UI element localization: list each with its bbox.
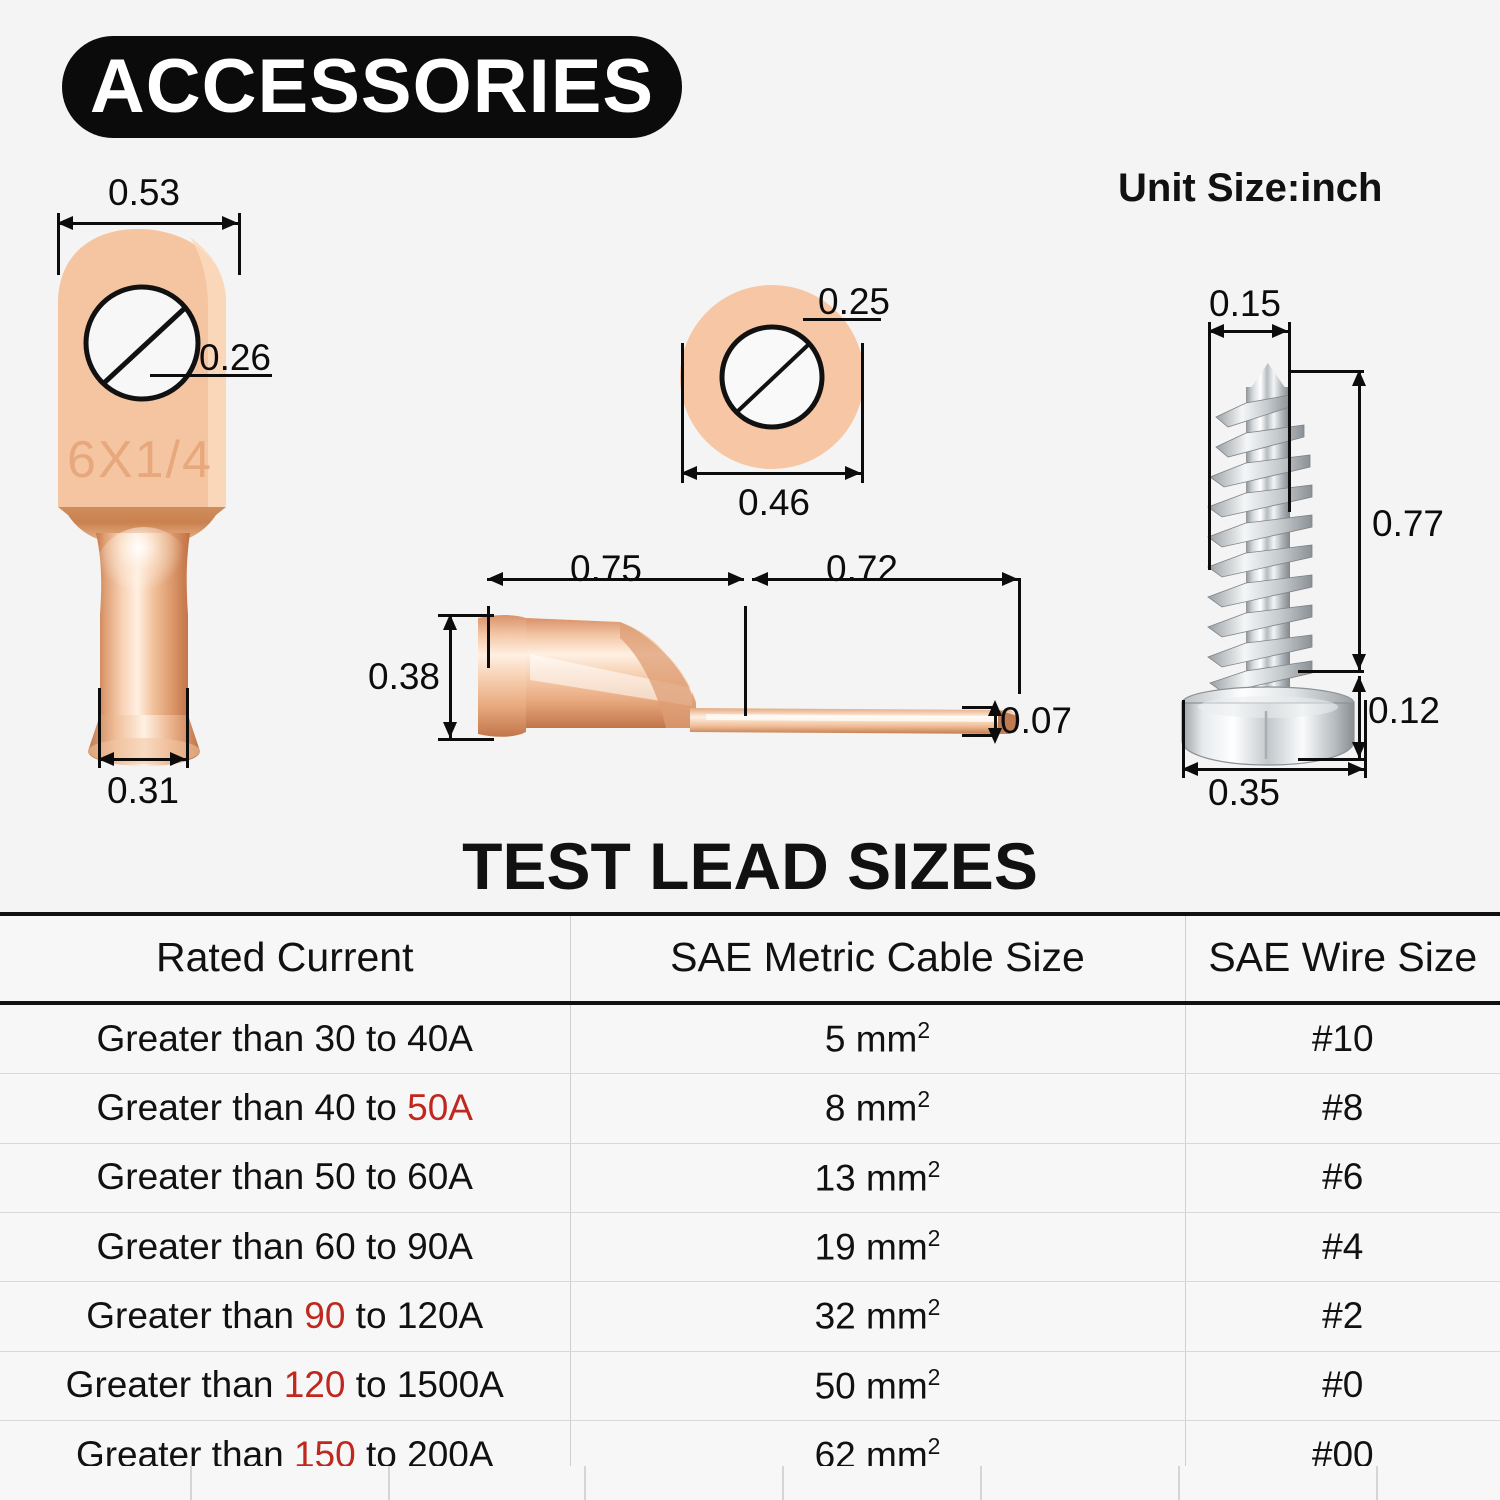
- dim-washer-outer-arrow-left: [681, 466, 697, 480]
- dim-pad-width-arrow-left: [57, 216, 73, 230]
- dim-pad-width-arrow-right: [222, 216, 238, 230]
- highlighted-current-value: 120: [284, 1364, 346, 1405]
- dim-washer-outer-ext-right: [861, 343, 864, 483]
- dim-barrel-length-label: 0.75: [570, 548, 642, 590]
- dim-shaft-len-line: [1358, 370, 1361, 670]
- cable-size-exponent: 2: [917, 1086, 930, 1112]
- dim-barrel-height-label: 0.38: [368, 656, 440, 698]
- dim-barrel-height-line: [449, 614, 452, 738]
- table-row: Greater than 30 to 40A5 mm2#10: [0, 1003, 1500, 1074]
- table-row: Greater than 60 to 90A19 mm2#4: [0, 1212, 1500, 1281]
- cell-cable-size: 32 mm2: [570, 1282, 1185, 1351]
- dim-washer-outer-label: 0.46: [738, 482, 810, 524]
- cell-rated-current: Greater than 60 to 90A: [0, 1212, 570, 1281]
- bolt-hole: [86, 287, 198, 399]
- dim-pad-width-line: [57, 222, 238, 225]
- cable-size-exponent: 2: [928, 1225, 941, 1251]
- cell-cable-size: 19 mm2: [570, 1212, 1185, 1281]
- dim-head-dia-ext-right: [1364, 700, 1367, 778]
- cell-rated-current: Greater than 40 to 50A: [0, 1074, 570, 1143]
- product-spec-sheet: ACCESSORIES Unit Size:inch: [0, 0, 1500, 1500]
- dim-thread-dia-arrow-right: [1272, 324, 1288, 338]
- dim-barrel-width-label: 0.31: [107, 770, 179, 812]
- cable-size-exponent: 2: [928, 1433, 941, 1459]
- dim-barrel-length-arrow-left: [487, 572, 503, 586]
- table-partial-row: [0, 1466, 1500, 1500]
- dim-hole-label: 0.26: [199, 337, 271, 379]
- cell-wire-size: #2: [1185, 1282, 1500, 1351]
- dim-thread-dia-ext-left: [1208, 322, 1211, 570]
- column-header-cable-size: SAE Metric Cable Size: [570, 914, 1185, 1003]
- highlighted-current-value: 90: [304, 1295, 345, 1336]
- lug-side-barrel-flare: [478, 615, 526, 737]
- cell-wire-size: #10: [1185, 1003, 1500, 1074]
- dim-tongue-length-label: 0.72: [826, 548, 898, 590]
- dim-washer-outer-line: [681, 472, 861, 475]
- cell-rated-current: Greater than 90 to 120A: [0, 1282, 570, 1351]
- dim-head-h-arrow-up: [1352, 676, 1366, 692]
- dim-barrel-height-ext-bottom: [438, 738, 494, 741]
- dim-head-h-label: 0.12: [1368, 690, 1440, 732]
- test-lead-sizes-table: Rated Current SAE Metric Cable Size SAE …: [0, 912, 1500, 1500]
- cable-size-exponent: 2: [928, 1364, 941, 1390]
- lug-size-stamp: 6X1/4: [67, 431, 213, 489]
- table-header-row: Rated Current SAE Metric Cable Size SAE …: [0, 914, 1500, 1003]
- dim-shaft-len-arrow-up: [1352, 370, 1366, 386]
- dim-thread-dia-ext-right: [1288, 322, 1291, 512]
- dim-barrel-width-ext-right: [186, 688, 189, 768]
- dim-head-dia-arrow-right: [1348, 762, 1364, 776]
- dim-barrel-height-arrow-down: [443, 722, 457, 738]
- dim-washer-outer-ext-left: [681, 343, 684, 483]
- cable-size-exponent: 2: [917, 1017, 930, 1043]
- column-header-wire-size: SAE Wire Size: [1185, 914, 1500, 1003]
- dim-barrel-width-arrow-right: [170, 752, 186, 766]
- cell-cable-size: 8 mm2: [570, 1074, 1185, 1143]
- copper-ring-lug-front-view: 6X1/4: [40, 215, 310, 785]
- accessories-badge-label: ACCESSORIES: [90, 49, 654, 125]
- screw-point: [1246, 363, 1290, 395]
- dim-tongue-length-ext-right: [1018, 578, 1021, 694]
- dim-barrel-length-ext-right: [744, 606, 747, 716]
- cell-rated-current: Greater than 120 to 1500A: [0, 1351, 570, 1420]
- dim-pad-width-ext-right: [238, 213, 241, 275]
- cell-wire-size: #4: [1185, 1212, 1500, 1281]
- table-title: TEST LEAD SIZES: [0, 828, 1500, 904]
- dim-barrel-width-arrow-left: [98, 752, 114, 766]
- table-row: Greater than 120 to 1500A50 mm2#0: [0, 1351, 1500, 1420]
- dim-barrel-length-arrow-right: [728, 572, 744, 586]
- dim-shaft-len-ext-bottom: [1298, 670, 1364, 673]
- dim-head-dia-label: 0.35: [1208, 772, 1280, 814]
- cell-cable-size: 13 mm2: [570, 1143, 1185, 1212]
- cell-wire-size: #0: [1185, 1351, 1500, 1420]
- dim-washer-inner-label: 0.25: [818, 281, 890, 323]
- dim-shaft-len-arrow-down: [1352, 654, 1366, 670]
- cell-wire-size: #8: [1185, 1074, 1500, 1143]
- cell-rated-current: Greater than 30 to 40A: [0, 1003, 570, 1074]
- cell-cable-size: 50 mm2: [570, 1351, 1185, 1420]
- highlighted-current-value: 50A: [407, 1087, 473, 1128]
- dim-barrel-height-arrow-up: [443, 614, 457, 630]
- cell-wire-size: #6: [1185, 1143, 1500, 1212]
- dim-washer-outer-arrow-right: [845, 466, 861, 480]
- dim-tongue-length-arrow-left: [752, 572, 768, 586]
- cable-size-exponent: 2: [928, 1156, 941, 1182]
- dim-head-h-ext-bottom: [1298, 758, 1364, 761]
- unit-size-note: Unit Size:inch: [1118, 166, 1382, 211]
- column-header-rated-current: Rated Current: [0, 914, 570, 1003]
- dim-thickness-label: 0.07: [1000, 700, 1072, 742]
- table-row: Greater than 40 to 50A8 mm2#8: [0, 1074, 1500, 1143]
- dim-tongue-length-arrow-right: [1002, 572, 1018, 586]
- dim-thread-dia-label: 0.15: [1209, 283, 1281, 325]
- dim-pad-width-label: 0.53: [108, 172, 180, 214]
- table-row: Greater than 90 to 120A32 mm2#2: [0, 1282, 1500, 1351]
- cell-rated-current: Greater than 50 to 60A: [0, 1143, 570, 1212]
- accessories-badge: ACCESSORIES: [62, 36, 682, 138]
- dim-shaft-len-label: 0.77: [1372, 503, 1444, 545]
- dim-head-dia-line: [1182, 768, 1364, 771]
- cable-size-exponent: 2: [928, 1294, 941, 1320]
- dim-thread-dia-arrow-left: [1208, 324, 1224, 338]
- dim-head-dia-arrow-left: [1182, 762, 1198, 776]
- table-row: Greater than 50 to 60A13 mm2#6: [0, 1143, 1500, 1212]
- copper-ring-lug-side-view: [470, 610, 1030, 770]
- cell-cable-size: 5 mm2: [570, 1003, 1185, 1074]
